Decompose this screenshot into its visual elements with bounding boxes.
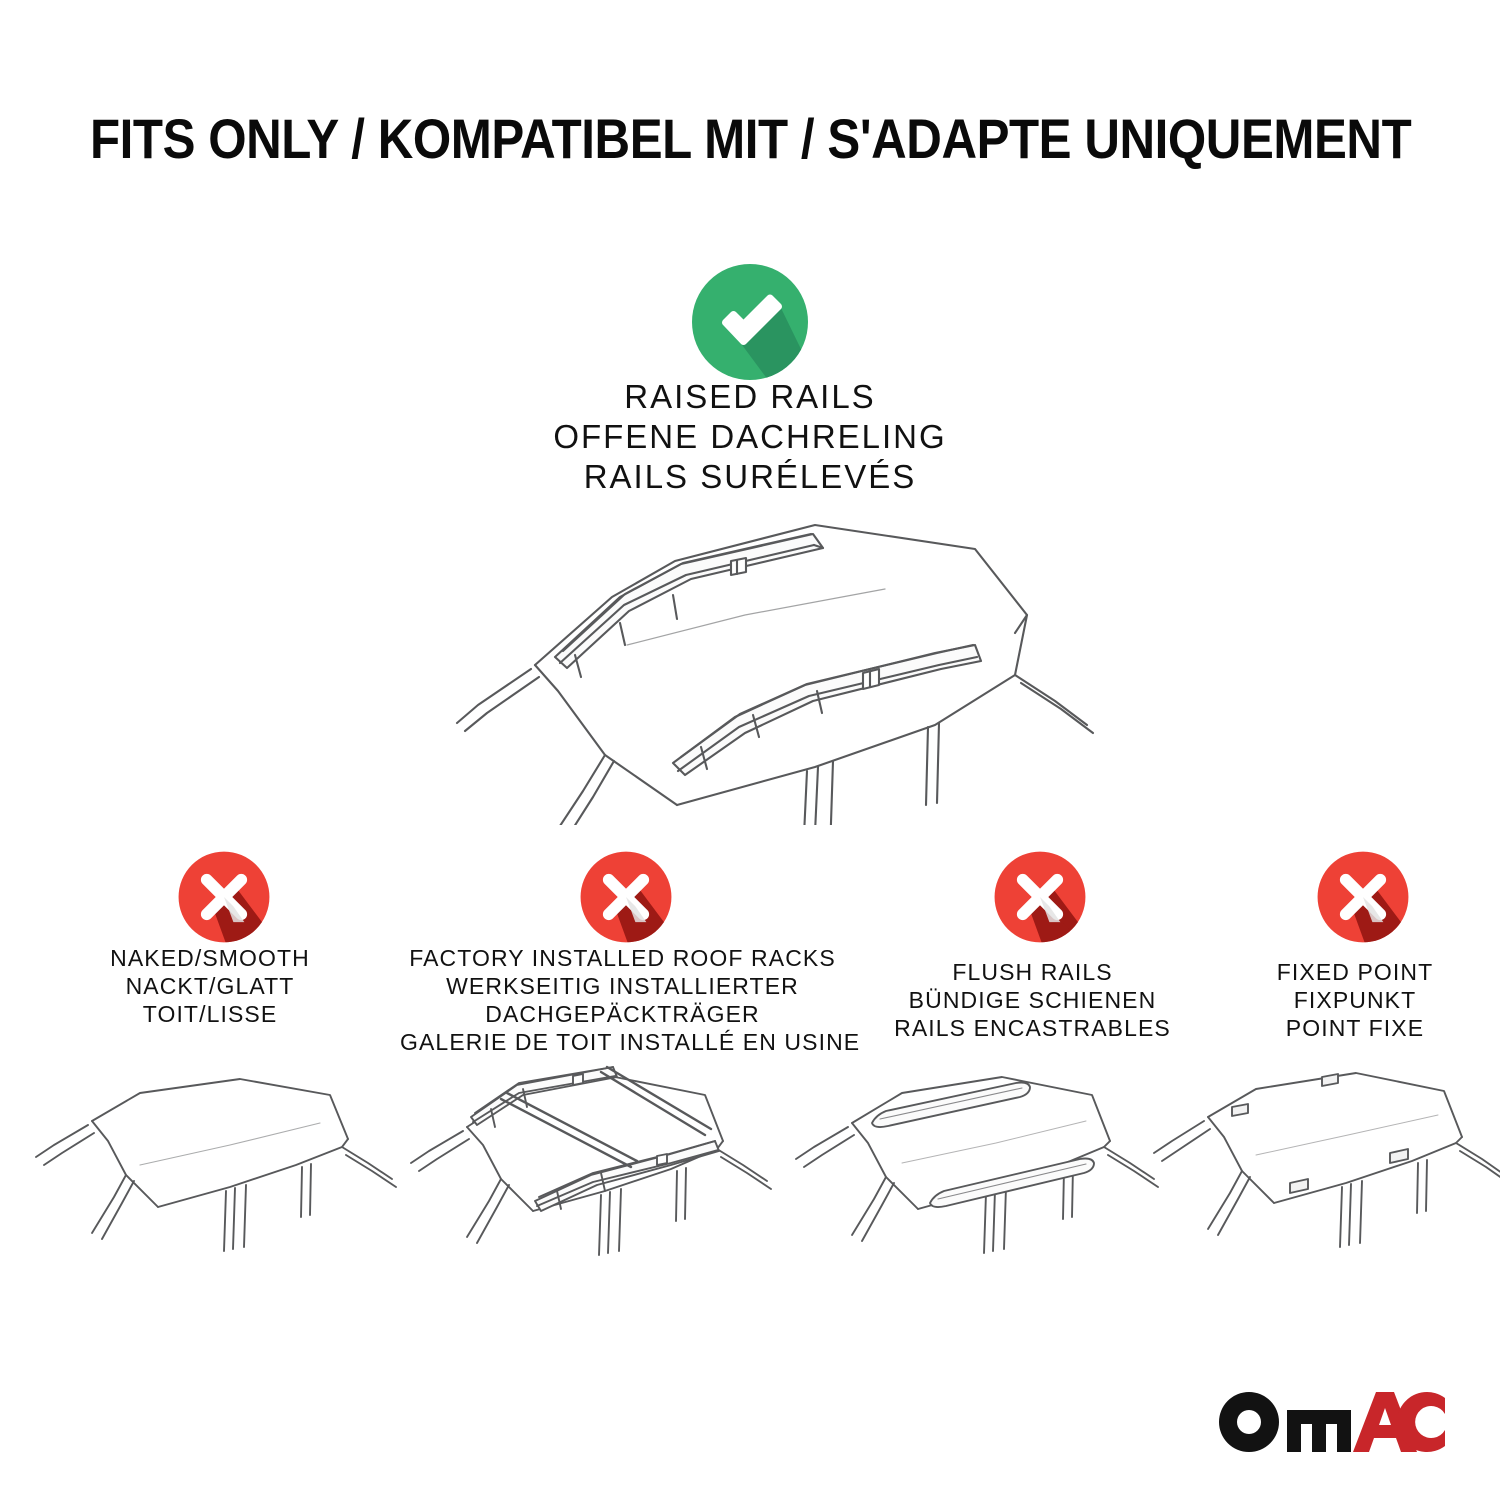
caption-line-de: FIXPUNKT <box>1215 986 1495 1014</box>
omac-logo: OMAC <box>1213 1386 1445 1458</box>
caption-line-de: NACKT/GLATT <box>15 972 405 1000</box>
column-caption: FIXED POINT FIXPUNKT POINT FIXE <box>1215 958 1495 1042</box>
car-roof-factory-roof-racks-illustration <box>405 1055 775 1310</box>
cross-circle-icon <box>177 850 271 944</box>
caption-line-en: FIXED POINT <box>1215 958 1495 986</box>
car-roof-naked-smooth-illustration <box>30 1055 400 1310</box>
caption-line-fr: RAILS ENCASTRABLES <box>845 1014 1220 1042</box>
fitment-compatibility-graphic: FITS ONLY / KOMPATIBEL MIT / S'ADAPTE UN… <box>0 0 1500 1500</box>
caption-line-de-2: DACHGEPÄCKTRÄGER <box>400 1000 845 1028</box>
car-roof-with-raised-rails-illustration <box>415 505 1095 830</box>
caption-line-de-1: WERKSEITIG INSTALLIERTER <box>400 972 845 1000</box>
compatible-line-de: OFFENE DACHRELING <box>0 417 1500 457</box>
caption-line-en: FLUSH RAILS <box>845 958 1220 986</box>
car-roof-fixed-point-illustration <box>1150 1055 1500 1310</box>
cross-circle-icon <box>1316 850 1410 944</box>
compatible-line-fr: RAILS SURÉLEVÉS <box>0 457 1500 497</box>
compatible-caption: RAISED RAILS OFFENE DACHRELING RAILS SUR… <box>0 377 1500 497</box>
caption-line-fr: POINT FIXE <box>1215 1014 1495 1042</box>
compatible-line-en: RAISED RAILS <box>0 377 1500 417</box>
cross-circle-icon <box>579 850 673 944</box>
page-title: FITS ONLY / KOMPATIBEL MIT / S'ADAPTE UN… <box>90 106 1410 171</box>
caption-line-en: NAKED/SMOOTH <box>15 944 405 972</box>
cross-circle-icon <box>993 850 1087 944</box>
caption-line-fr: GALERIE DE TOIT INSTALLÉ EN USINE <box>400 1028 845 1056</box>
column-caption: FLUSH RAILS BÜNDIGE SCHIENEN RAILS ENCAS… <box>845 958 1220 1042</box>
caption-line-fr: TOIT/LISSE <box>15 1000 405 1028</box>
incompatible-illustrations <box>0 1055 1500 1315</box>
caption-line-en: FACTORY INSTALLED ROOF RACKS <box>400 944 845 972</box>
column-caption: NAKED/SMOOTH NACKT/GLATT TOIT/LISSE <box>15 944 405 1028</box>
car-roof-flush-rails-illustration <box>790 1055 1160 1310</box>
column-caption: FACTORY INSTALLED ROOF RACKS WERKSEITIG … <box>400 944 845 1056</box>
check-circle-icon <box>690 262 810 382</box>
caption-line-de: BÜNDIGE SCHIENEN <box>845 986 1220 1014</box>
